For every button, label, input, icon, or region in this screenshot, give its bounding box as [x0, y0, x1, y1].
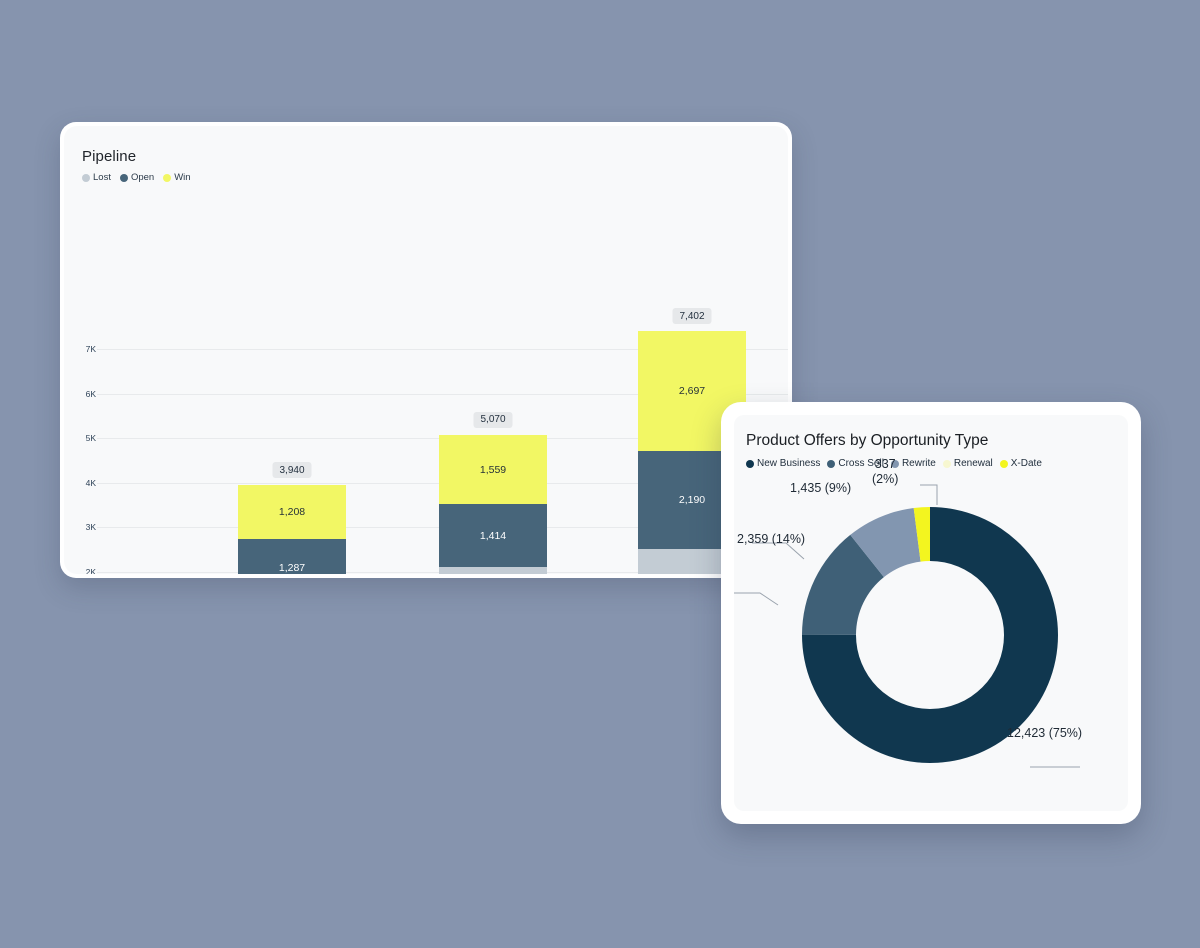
- legend-label: Rewrite: [902, 458, 936, 469]
- donut-label-new-business: 12,423 (75%): [1007, 726, 1082, 741]
- bar-total-badge: 5,070: [473, 412, 512, 428]
- legend-label: Renewal: [954, 458, 993, 469]
- donut-label-x-date: 337(2%): [872, 457, 898, 487]
- bar-column[interactable]: 1,4451,2871,208: [238, 485, 346, 574]
- y-axis-tick: 3K: [76, 522, 96, 532]
- legend-item-renewal[interactable]: Renewal: [943, 458, 993, 469]
- legend-item-x-date[interactable]: X-Date: [1000, 458, 1042, 469]
- leader-line-x-date: [920, 485, 937, 505]
- legend-swatch-icon: [1000, 460, 1008, 468]
- y-axis-tick: 6K: [76, 389, 96, 399]
- donut-label-cross-sell: 2,359 (14%): [737, 532, 805, 547]
- product-offers-title: Product Offers by Opportunity Type: [746, 432, 988, 450]
- y-axis-tick: 2K: [76, 567, 96, 574]
- bar-segment-open[interactable]: 1,287: [238, 539, 346, 574]
- bar-segment-lost[interactable]: 2,097: [439, 567, 547, 574]
- donut-chart: [734, 475, 1128, 811]
- donut-label-rewrite: 1,435 (9%): [790, 481, 851, 496]
- bar-column[interactable]: 2,0971,4141,559: [439, 435, 547, 574]
- pipeline-card: Pipeline LostOpenWin 0K1K2K3K4K5K6K7K1,4…: [60, 122, 792, 578]
- pipeline-plot-area: 0K1K2K3K4K5K6K7K1,4451,2871,2083,9402025…: [64, 126, 788, 574]
- product-offers-card: Product Offers by Opportunity Type New B…: [721, 402, 1141, 824]
- bar-total-badge: 7,402: [672, 308, 711, 324]
- legend-swatch-icon: [827, 460, 835, 468]
- y-axis-tick: 5K: [76, 433, 96, 443]
- legend-label: X-Date: [1011, 458, 1042, 469]
- bar-segment-win[interactable]: 1,208: [238, 485, 346, 539]
- legend-swatch-icon: [943, 460, 951, 468]
- legend-swatch-icon: [746, 460, 754, 468]
- bar-total-badge: 3,940: [272, 462, 311, 478]
- legend-item-new-business[interactable]: New Business: [746, 458, 820, 469]
- pipeline-card-body: Pipeline LostOpenWin 0K1K2K3K4K5K6K7K1,4…: [64, 126, 788, 574]
- leader-line-cross-sell: [734, 593, 778, 605]
- legend-label: New Business: [757, 458, 820, 469]
- y-axis-tick: 4K: [76, 478, 96, 488]
- y-axis-tick: 7K: [76, 344, 96, 354]
- bar-segment-open[interactable]: 1,414: [439, 504, 547, 567]
- product-offers-card-body: Product Offers by Opportunity Type New B…: [734, 415, 1128, 811]
- bar-segment-win[interactable]: 1,559: [439, 435, 547, 505]
